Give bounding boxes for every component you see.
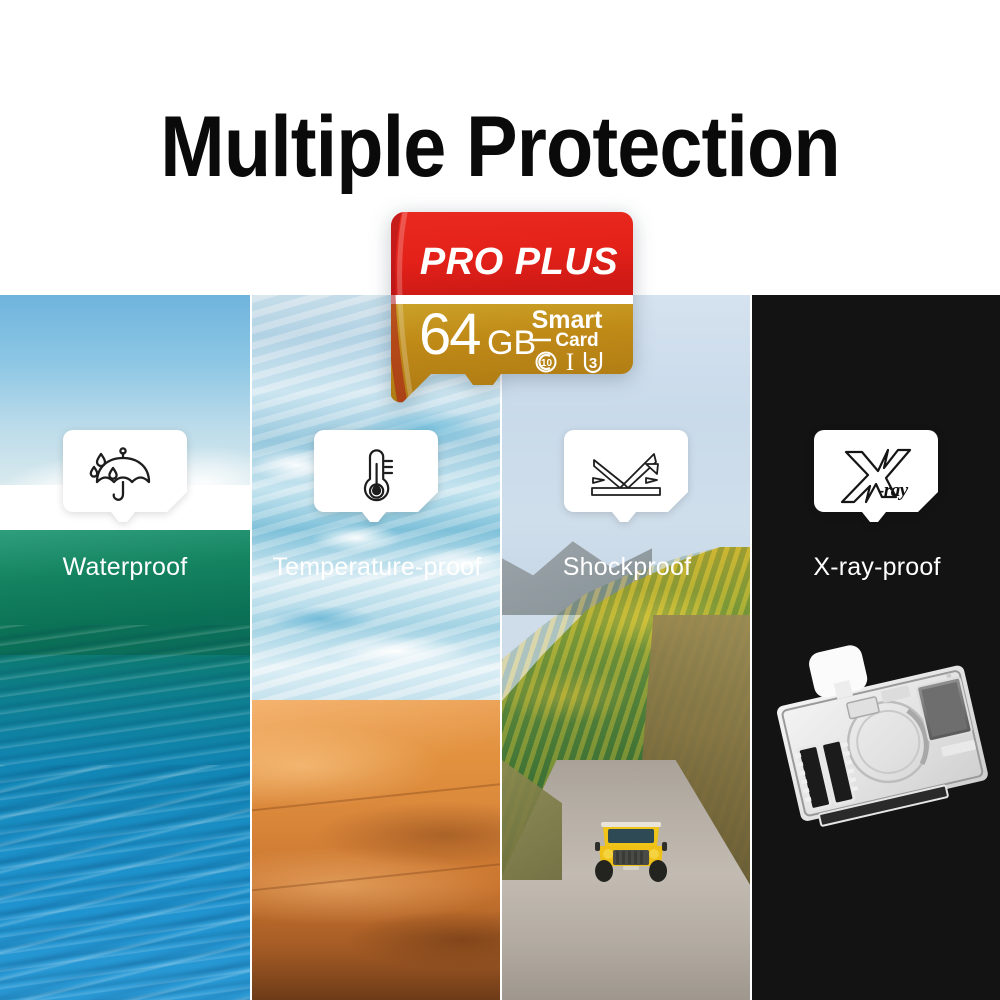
thermometer-icon	[326, 444, 426, 506]
panel-label-xray-proof: X-ray-proof	[752, 553, 1000, 582]
card-capacity-number: 64	[419, 302, 480, 367]
ocean-wave-photo	[0, 295, 250, 1000]
feature-tile-xray-proof[interactable]: -ray	[814, 430, 938, 530]
feature-tile-waterproof[interactable]	[63, 430, 187, 530]
feature-tile-shockproof[interactable]	[564, 430, 688, 530]
svg-text:10: 10	[541, 358, 553, 369]
card-brand-line: PRO PLUS	[420, 241, 618, 283]
memory-card-graphic: PRO PLUS 64 GB Smart Card 10 I 3	[369, 212, 633, 417]
x-ray-logo-word: -ray	[878, 480, 909, 501]
umbrella-rain-icon	[75, 444, 175, 506]
panel-xray-proof[interactable]: -ray X-ray-proof	[750, 295, 1000, 1000]
feature-tile-temperature-proof[interactable]	[314, 430, 438, 530]
card-capacity-unit: GB	[487, 324, 536, 362]
product-memory-card[interactable]: PRO PLUS 64 GB Smart Card 10 I 3	[369, 212, 633, 417]
x-ray-logo-icon: -ray	[826, 444, 926, 506]
svg-text:3: 3	[589, 355, 597, 372]
page-title: Multiple Protection	[50, 104, 950, 190]
impact-arrows-icon	[576, 444, 676, 506]
jeep-vehicle	[589, 814, 673, 884]
card-subbrand-card: Card	[555, 330, 598, 351]
uhs-bus-badge: I	[566, 349, 574, 376]
panel-waterproof[interactable]: Waterproof	[0, 295, 250, 1000]
panel-label-temperature-proof: Temperature-proof	[252, 553, 500, 582]
xray-camera-scan-image	[762, 613, 994, 845]
panel-label-shockproof: Shockproof	[502, 553, 750, 582]
panel-label-waterproof: Waterproof	[0, 553, 250, 582]
svg-text:I: I	[566, 349, 574, 376]
desert-dunes-photo	[252, 700, 500, 1000]
